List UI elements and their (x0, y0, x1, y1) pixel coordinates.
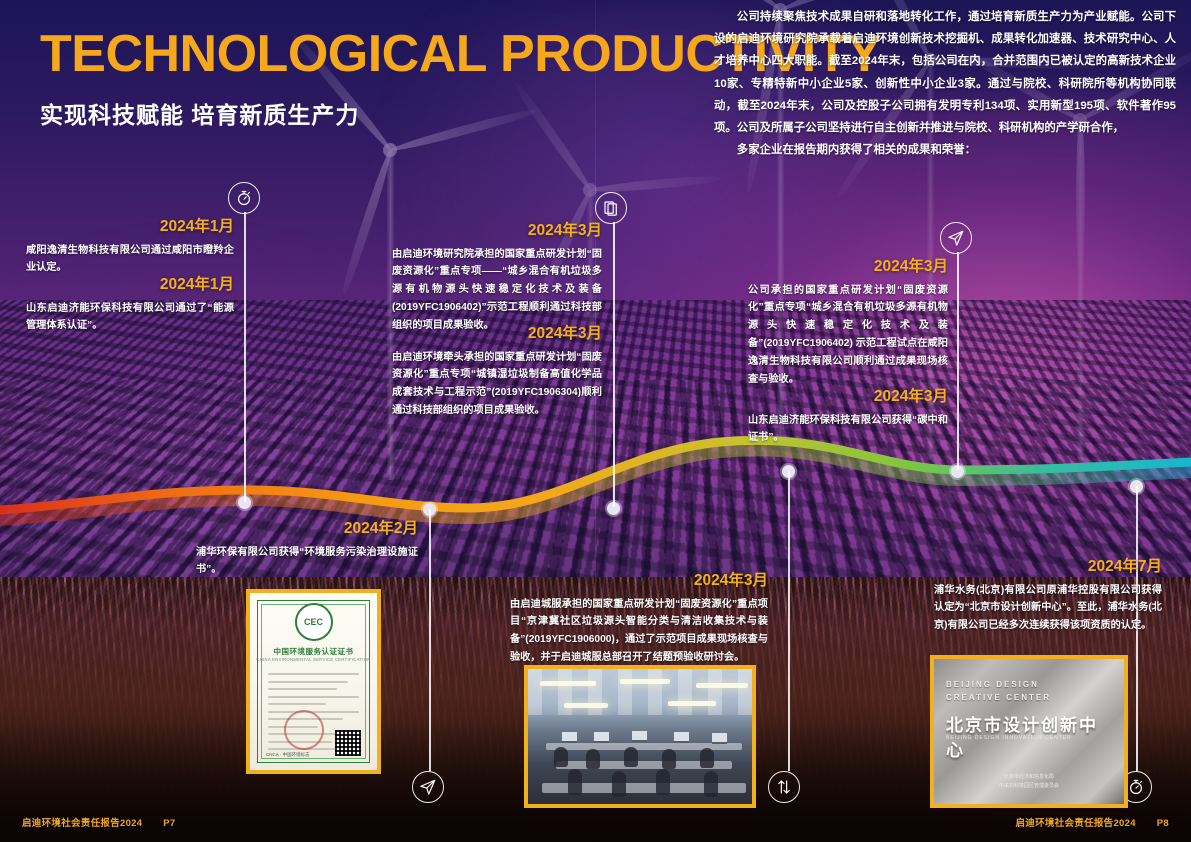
entry-date: 2024年1月 (26, 218, 234, 237)
intro-paragraph-2: 多家企业在报告期内获得了相关的成果和荣誉： (714, 139, 1176, 161)
plaque-scene: BEIJING DESIGN CREATIVE CENTER 北京市设计创新中心… (934, 659, 1124, 804)
footer-left: 启迪环境社会责任报告2024 P7 (22, 815, 176, 829)
plaque-footer-text: 北京市经济和信息化局 中关村科技园区管理委员会 (999, 773, 1059, 790)
entry-text: 浦华水务(北京)有限公司原浦华控股有限公司获得认定为“北京市设计创新中心”。至此… (934, 582, 1162, 636)
certificate-logo-text: CNCA · 中国环境标志 (266, 752, 310, 758)
plaque-small-text: BEIJING DESIGN INNOVATION CENTER (946, 735, 1112, 741)
entry-text: 浦华环保有限公司获得“环境服务污染治理设施证书”。 (196, 544, 418, 580)
timeline-entry: 2024年3月 由启迪城服承担的国家重点研发计划“固废资源化”重点项目“京津冀社… (510, 572, 768, 667)
footer-right: 启迪环境社会责任报告2024 P8 (1015, 815, 1169, 829)
entry-date: 2024年3月 (392, 222, 602, 241)
entry-text: 山东启迪济能环保科技有限公司通过了“能源管理体系认证”。 (26, 300, 234, 336)
timeline-entry: 2024年2月 浦华环保有限公司获得“环境服务污染治理设施证书”。 (196, 520, 418, 579)
entry-date: 2024年3月 (392, 325, 602, 344)
timeline-entry: 2024年1月 咸阳逸清生物科技有限公司通过咸阳市瞪羚企业认定。 (26, 218, 234, 277)
send-icon[interactable] (412, 771, 444, 803)
qr-code (335, 730, 361, 756)
office-photo[interactable] (524, 665, 756, 808)
entry-date: 2024年3月 (748, 388, 948, 407)
footer-right-title: 启迪环境社会责任报告2024 (1015, 818, 1135, 829)
entry-text: 咸阳逸清生物科技有限公司通过咸阳市瞪羚企业认定。 (26, 242, 234, 278)
entry-date: 2024年3月 (748, 258, 948, 277)
footer-left-title: 启迪环境社会责任报告2024 (22, 818, 142, 829)
timeline-entry: 2024年3月 由启迪环境牵头承担的国家重点研发计划“固废资源化”重点专项“城镇… (392, 325, 602, 420)
entry-text: 由启迪环境研究院承担的国家重点研发计划“固废资源化”重点专项——“城乡混合有机垃… (392, 246, 602, 335)
document-icon[interactable] (595, 192, 627, 224)
certificate-subtitle: CHINA ENVIRONMENTAL SERVICE CERTIFICATIO… (250, 657, 377, 662)
entry-text: 公司承担的国家重点研发计划“固废资源化”重点专项“城乡混合有机垃圾多源有机物源头… (748, 282, 948, 389)
footer-right-page: P8 (1157, 818, 1169, 829)
plaque-photo[interactable]: BEIJING DESIGN CREATIVE CENTER 北京市设计创新中心… (930, 655, 1128, 808)
intro-paragraph-1: 公司持续聚焦技术成果自研和落地转化工作，通过培育新质生产力为产业赋能。公司下设的… (714, 6, 1176, 139)
timeline-entry: 2024年3月 由启迪环境研究院承担的国家重点研发计划“固废资源化”重点专项——… (392, 222, 602, 335)
intro-text: 公司持续聚焦技术成果自研和落地转化工作，通过培育新质生产力为产业赋能。公司下设的… (714, 6, 1176, 162)
entry-text: 山东启迪济能环保科技有限公司获得“碳中和证书”。 (748, 412, 948, 448)
timeline-entry: 2024年3月 山东启迪济能环保科技有限公司获得“碳中和证书”。 (748, 388, 948, 447)
stopwatch-icon[interactable] (228, 182, 260, 214)
footer-left-page: P7 (163, 818, 175, 829)
timeline-stem (429, 509, 431, 771)
timeline-stem (244, 212, 246, 502)
timeline-stem (613, 222, 615, 507)
entry-date: 2024年1月 (26, 276, 234, 295)
timeline-entry: 2024年3月 公司承担的国家重点研发计划“固废资源化”重点专项“城乡混合有机垃… (748, 258, 948, 389)
report-spread: TECHNOLOGICAL PRODUCTIVITY 实现科技赋能 培育新质生产… (0, 0, 1191, 842)
certificate-title: 中国环境服务认证证书 (250, 646, 377, 657)
plaque-english-text: BEIJING DESIGN CREATIVE CENTER (946, 679, 1112, 705)
entry-date: 2024年3月 (510, 572, 768, 591)
timeline-entry: 2024年1月 山东启迪济能环保科技有限公司通过了“能源管理体系认证”。 (26, 276, 234, 335)
certificate-page: CEC 中国环境服务认证证书 CHINA ENVIRONMENTAL SERVI… (250, 593, 377, 770)
timeline-stem (788, 471, 790, 771)
entry-text: 由启迪城服承担的国家重点研发计划“固废资源化”重点项目“京津冀社区垃圾源头智能分… (510, 596, 768, 667)
certificate-photo[interactable]: CEC 中国环境服务认证证书 CHINA ENVIRONMENTAL SERVI… (246, 589, 381, 774)
entry-text: 由启迪环境牵头承担的国家重点研发计划“固废资源化”重点专项“城镇湿垃圾制备高值化… (392, 349, 602, 420)
updown-arrows-icon[interactable] (768, 771, 800, 803)
office-scene (528, 669, 752, 804)
office-ceiling (528, 669, 752, 715)
send-icon[interactable] (940, 222, 972, 254)
timeline-entry: 2024年7月 浦华水务(北京)有限公司原浦华控股有限公司获得认定为“北京市设计… (934, 558, 1162, 635)
timeline-stem (957, 252, 959, 470)
entry-date: 2024年2月 (196, 520, 418, 539)
page-subtitle: 实现科技赋能 培育新质生产力 (40, 96, 359, 130)
entry-date: 2024年7月 (934, 558, 1162, 577)
certificate-seal-icon: CEC (295, 603, 333, 641)
